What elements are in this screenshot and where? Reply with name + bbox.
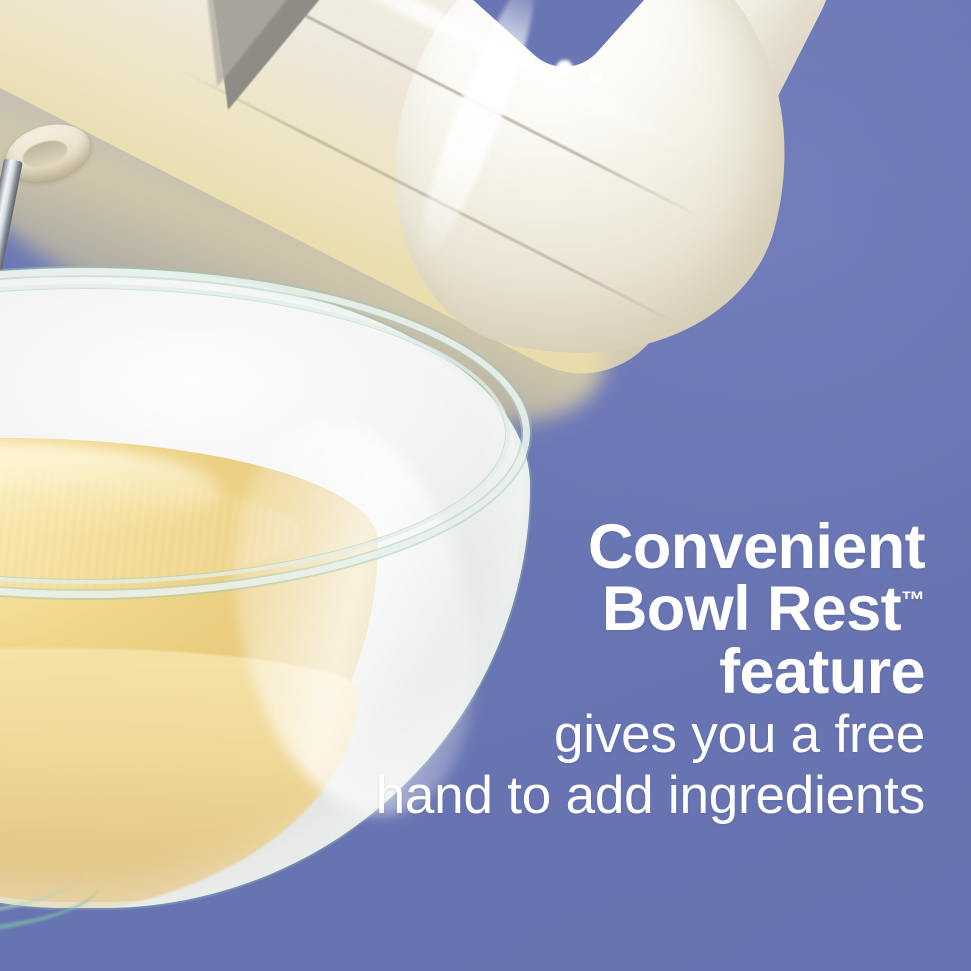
trademark-icon: ™ — [901, 587, 925, 614]
hand-mixer-specular-highlight-2 — [590, 72, 602, 84]
subline-1: gives you a free — [225, 707, 925, 764]
subline-2: hand to add ingredients — [225, 768, 925, 825]
headline-line-2: Bowl Rest™ — [225, 578, 925, 640]
marketing-image: Convenient Bowl Rest™ feature gives you … — [0, 0, 971, 971]
headline-line-1: Convenient — [225, 516, 925, 578]
headline-line-3: feature — [225, 641, 925, 703]
product-photo — [0, 0, 760, 971]
hand-mixer-specular-highlight-1 — [556, 60, 573, 77]
marketing-copy-block: Convenient Bowl Rest™ feature gives you … — [225, 516, 925, 824]
headline-line-2-text: Bowl Rest — [602, 574, 901, 644]
